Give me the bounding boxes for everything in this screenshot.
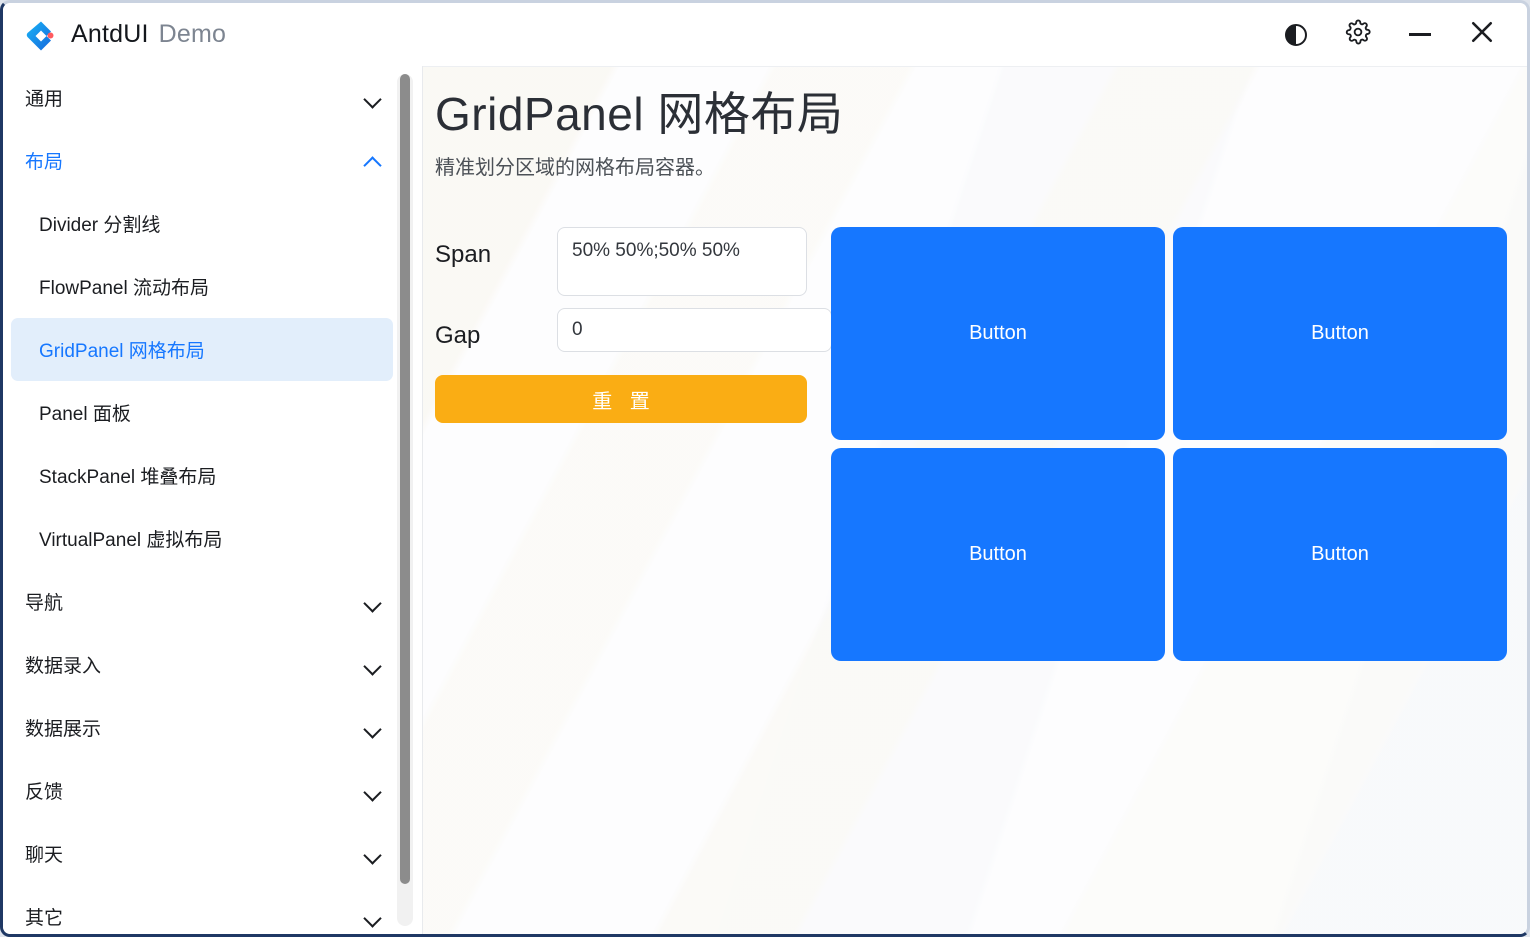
sidebar-group-label: 通用 [25,84,63,111]
sidebar: 通用 布局 Divider 分割线 FlowPanel 流动布局 GridPan… [3,66,423,934]
sidebar-group-layout[interactable]: 布局 [3,129,405,192]
page-title: GridPanel 网格布局 [435,87,1527,141]
chevron-down-icon [365,783,381,799]
body: 通用 布局 Divider 分割线 FlowPanel 流动布局 GridPan… [3,66,1527,934]
sidebar-item-label: FlowPanel 流动布局 [39,273,209,300]
span-input[interactable]: 50% 50%;50% 50% [557,227,807,296]
sidebar-group-navigation[interactable]: 导航 [3,570,405,633]
sidebar-group-data-entry[interactable]: 数据录入 [3,633,405,696]
app-name: AntdUI [71,20,149,48]
demo-area: Span 50% 50%;50% 50% Gap 重 置 Button Butt… [435,219,1507,924]
content-area: GridPanel 网格布局 精准划分区域的网格布局容器。 Span 50% 5… [423,66,1527,934]
sidebar-item-panel[interactable]: Panel 面板 [11,381,393,444]
chevron-down-icon [365,846,381,862]
grid-button-3[interactable]: Button [831,448,1165,661]
window-inner: AntdUIDemo [3,3,1527,934]
minimize-button[interactable] [1389,3,1451,66]
page-header: GridPanel 网格布局 精准划分区域的网格布局容器。 [423,67,1527,180]
app-window: AntdUIDemo [0,0,1530,937]
close-icon [1467,17,1497,52]
sidebar-item-label: Divider 分割线 [39,210,160,237]
window-controls [1265,3,1527,66]
settings-button[interactable] [1327,3,1389,66]
app-subtitle: Demo [159,20,227,48]
grid-button-2[interactable]: Button [1173,227,1507,440]
sidebar-item-flowpanel[interactable]: FlowPanel 流动布局 [11,255,393,318]
gap-input[interactable] [557,308,832,352]
sidebar-menu: 通用 布局 Divider 分割线 FlowPanel 流动布局 GridPan… [3,66,405,934]
gap-label: Gap [435,308,557,351]
sidebar-item-stackpanel[interactable]: StackPanel 堆叠布局 [11,444,393,507]
chevron-down-icon [365,909,381,925]
reset-button[interactable]: 重 置 [435,375,807,423]
chevron-down-icon [365,720,381,736]
minimize-icon [1409,33,1431,36]
chevron-down-icon [365,657,381,673]
sidebar-scrollbar-thumb[interactable] [400,74,410,884]
sidebar-group-label: 布局 [25,147,63,174]
sidebar-group-general[interactable]: 通用 [3,66,405,129]
span-row: Span 50% 50%;50% 50% [435,227,807,296]
sidebar-item-label: StackPanel 堆叠布局 [39,462,216,489]
app-title: AntdUIDemo [71,20,226,49]
sidebar-item-virtualpanel[interactable]: VirtualPanel 虚拟布局 [11,507,393,570]
sidebar-group-data-display[interactable]: 数据展示 [3,696,405,759]
sidebar-item-label: Panel 面板 [39,399,131,426]
grid-demo-column: Button Button Button Button [831,219,1507,924]
settings-form: Span 50% 50%;50% 50% Gap 重 置 [435,219,807,924]
sidebar-group-feedback[interactable]: 反馈 [3,759,405,822]
sidebar-group-chat[interactable]: 聊天 [3,822,405,885]
grid-panel: Button Button Button Button [831,227,1507,661]
chevron-down-icon [365,90,381,106]
chevron-up-icon [365,153,381,169]
theme-toggle-button[interactable] [1265,3,1327,66]
gear-icon [1345,19,1371,50]
sidebar-group-label: 反馈 [25,777,63,804]
grid-button-4[interactable]: Button [1173,448,1507,661]
sidebar-group-other[interactable]: 其它 [3,885,405,934]
sidebar-scrollbar[interactable] [397,74,413,926]
app-brand: AntdUIDemo [3,19,226,51]
sidebar-group-label: 其它 [25,903,63,930]
page-description: 精准划分区域的网格布局容器。 [435,151,1527,180]
theme-contrast-icon [1285,24,1307,46]
grid-button-1[interactable]: Button [831,227,1165,440]
sidebar-group-label: 导航 [25,588,63,615]
span-label: Span [435,227,557,270]
chevron-down-icon [365,594,381,610]
sidebar-item-divider[interactable]: Divider 分割线 [11,192,393,255]
sidebar-item-gridpanel[interactable]: GridPanel 网格布局 [11,318,393,381]
close-button[interactable] [1451,3,1513,66]
sidebar-group-label: 数据展示 [25,714,101,741]
sidebar-group-label: 聊天 [25,840,63,867]
gap-row: Gap [435,308,807,352]
sidebar-item-label: GridPanel 网格布局 [39,336,205,363]
antdui-logo-icon [25,19,57,51]
sidebar-item-label: VirtualPanel 虚拟布局 [39,525,222,552]
title-bar[interactable]: AntdUIDemo [3,3,1527,66]
sidebar-group-label: 数据录入 [25,651,101,678]
